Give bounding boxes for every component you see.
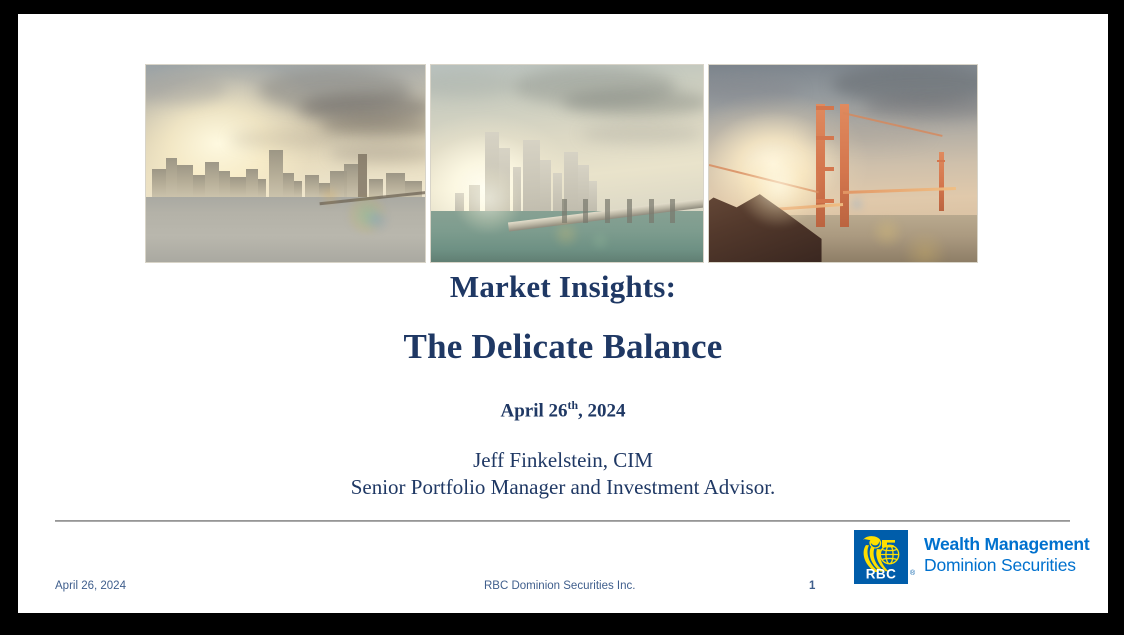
- footer-date: April 26, 2024: [55, 580, 126, 592]
- page-title: Market Insights:: [18, 269, 1108, 305]
- svg-text:RBC: RBC: [866, 567, 896, 582]
- registered-trademark-mark: ®: [910, 570, 915, 577]
- presentation-date: April 26th, 2024: [18, 399, 1108, 422]
- hero-image-new-york-skyline-sunset: [145, 64, 426, 263]
- presentation-slide: Market Insights: The Delicate Balance Ap…: [18, 14, 1108, 613]
- footer-page-number: 1: [809, 580, 815, 592]
- rbc-logo-wordmark: Wealth Management Dominion Securities: [924, 530, 1089, 577]
- rbc-wordmark-line-1: Wealth Management: [924, 534, 1089, 555]
- presentation-date-year: , 2024: [578, 400, 626, 421]
- page-subtitle: The Delicate Balance: [18, 327, 1108, 367]
- presentation-date-ordinal: th: [568, 399, 578, 412]
- rbc-wordmark-line-2: Dominion Securities: [924, 555, 1089, 576]
- hero-image-strip: [145, 64, 978, 263]
- miami-image-canvas: [431, 65, 703, 262]
- slide-outer-frame: Market Insights: The Delicate Balance Ap…: [0, 0, 1124, 635]
- rbc-logo-lockup: RBC ® Wealth Management Dominion Securit…: [854, 530, 1089, 584]
- hero-image-miami-causeway-bridge: [430, 64, 704, 263]
- presenter-name: Jeff Finkelstein, CIM: [18, 448, 1108, 473]
- presentation-date-daymonth: April 26: [501, 400, 568, 421]
- footer-entity-name: RBC Dominion Securities Inc.: [484, 580, 635, 592]
- rbc-lion-globe-crest-icon: RBC: [854, 530, 908, 584]
- rbc-logo-mark: RBC ®: [854, 530, 908, 584]
- hero-image-golden-gate-bridge-sunset: [708, 64, 978, 263]
- golden-gate-image-canvas: [709, 65, 977, 262]
- new-york-image-canvas: [146, 65, 425, 262]
- footer-divider: [55, 520, 1070, 522]
- presenter-role: Senior Portfolio Manager and Investment …: [18, 475, 1108, 500]
